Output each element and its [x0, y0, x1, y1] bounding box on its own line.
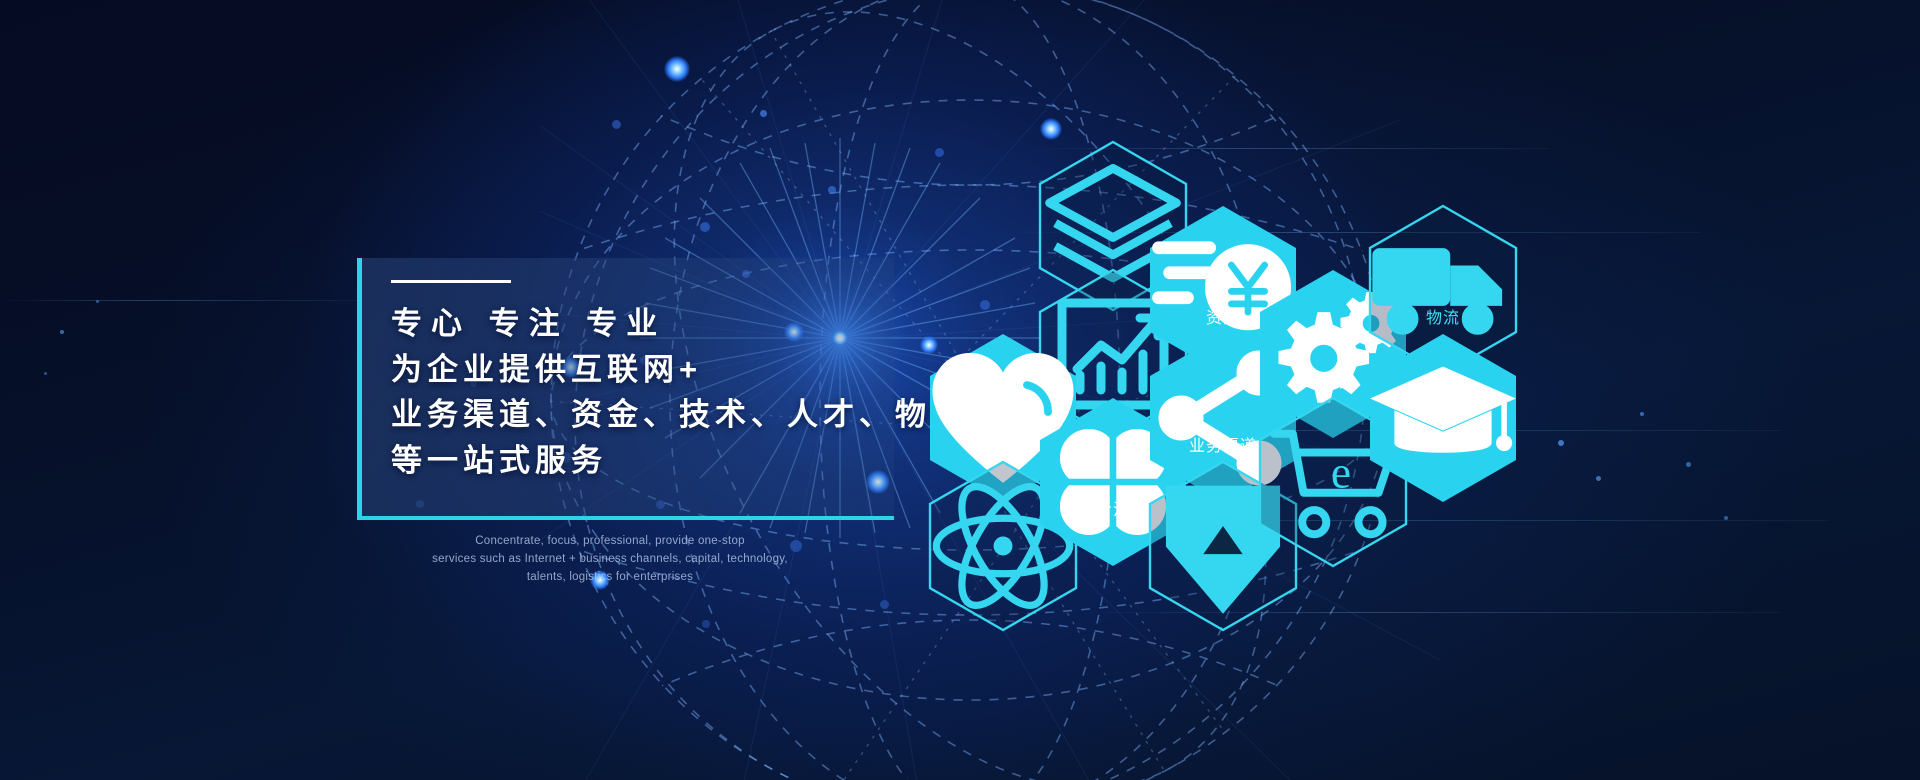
hero-banner: 专心 专注 专业 为企业提供互联网+ 业务渠道、资金、技术、人才、物流 等一站式…	[0, 0, 1920, 780]
hex-rencai[interactable]: 人才	[1368, 332, 1518, 504]
hexagon-grid: 专心	[0, 0, 1920, 780]
svg-text:e: e	[1331, 446, 1351, 497]
